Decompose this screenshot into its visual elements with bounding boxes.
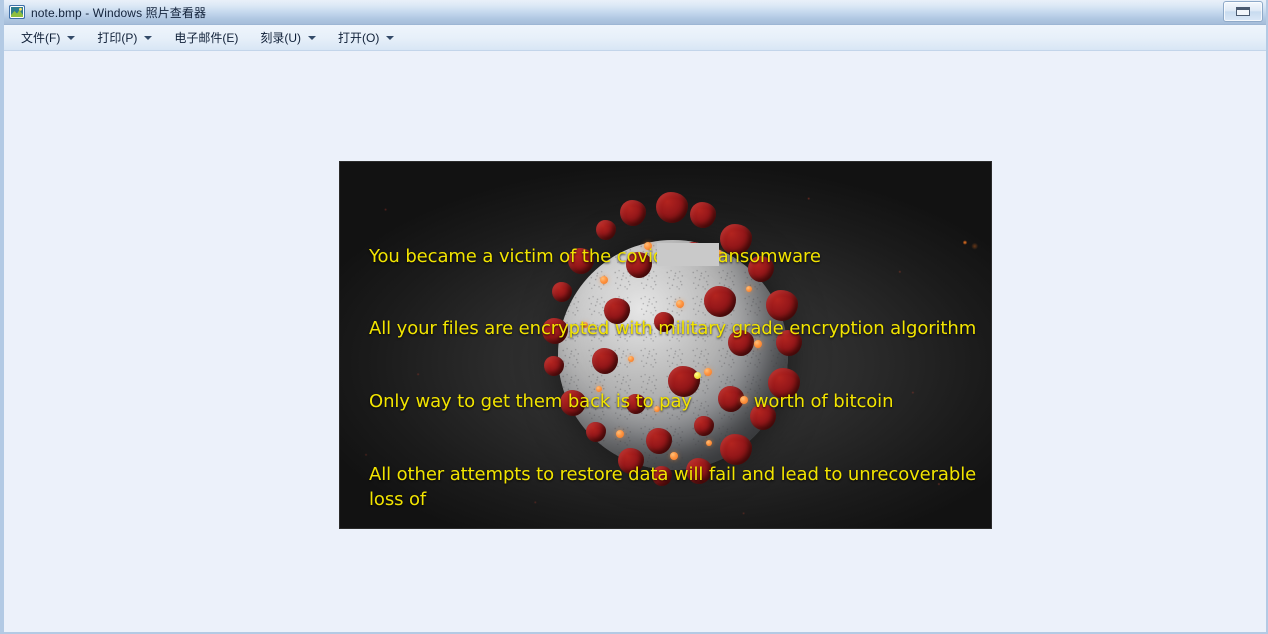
note-line: Only way to get them back is to pay wort… bbox=[369, 390, 981, 414]
menu-item-email[interactable]: 电子邮件(E) bbox=[167, 28, 245, 48]
menu-item-file-label: 文件(F) bbox=[21, 29, 60, 46]
menu-item-file[interactable]: 文件(F) bbox=[14, 28, 82, 48]
menu-item-open[interactable]: 打开(O) bbox=[331, 28, 401, 48]
menu-item-burn-label: 刻录(U) bbox=[260, 29, 301, 46]
window-title: note.bmp - Windows 照片查看器 bbox=[31, 4, 206, 21]
menu-item-open-label: 打开(O) bbox=[338, 29, 379, 46]
menu-item-print[interactable]: 打印(P) bbox=[90, 28, 159, 48]
menu-bar: 文件(F) 打印(P) 电子邮件(E) 刻录(U) 打开(O) bbox=[4, 25, 1266, 51]
chevron-down-icon bbox=[386, 36, 394, 40]
title-bar[interactable]: note.bmp - Windows 照片查看器 bbox=[4, 0, 1266, 25]
menu-item-print-label: 打印(P) bbox=[97, 29, 137, 46]
chevron-down-icon bbox=[308, 36, 316, 40]
redacted-amount bbox=[657, 243, 719, 266]
restore-button[interactable] bbox=[1223, 1, 1263, 22]
note-line: All your files are encrypted with milita… bbox=[369, 317, 981, 341]
chevron-down-icon bbox=[144, 36, 152, 40]
window-controls bbox=[1223, 1, 1263, 22]
menu-item-email-label: 电子邮件(E) bbox=[174, 29, 238, 46]
note-line: All other attempts to restore data will … bbox=[369, 463, 981, 512]
menu-item-burn[interactable]: 刻录(U) bbox=[253, 28, 323, 48]
chevron-down-icon bbox=[67, 36, 75, 40]
ransom-note-image: You became a victim of the covid-666 ran… bbox=[340, 162, 991, 528]
viewer-canvas: You became a victim of the covid-666 ran… bbox=[4, 51, 1266, 632]
photo-viewer-window: note.bmp - Windows 照片查看器 文件(F) 打印(P) 电子邮… bbox=[0, 0, 1268, 634]
restore-icon bbox=[1236, 7, 1250, 16]
photo-viewer-icon bbox=[9, 4, 25, 20]
